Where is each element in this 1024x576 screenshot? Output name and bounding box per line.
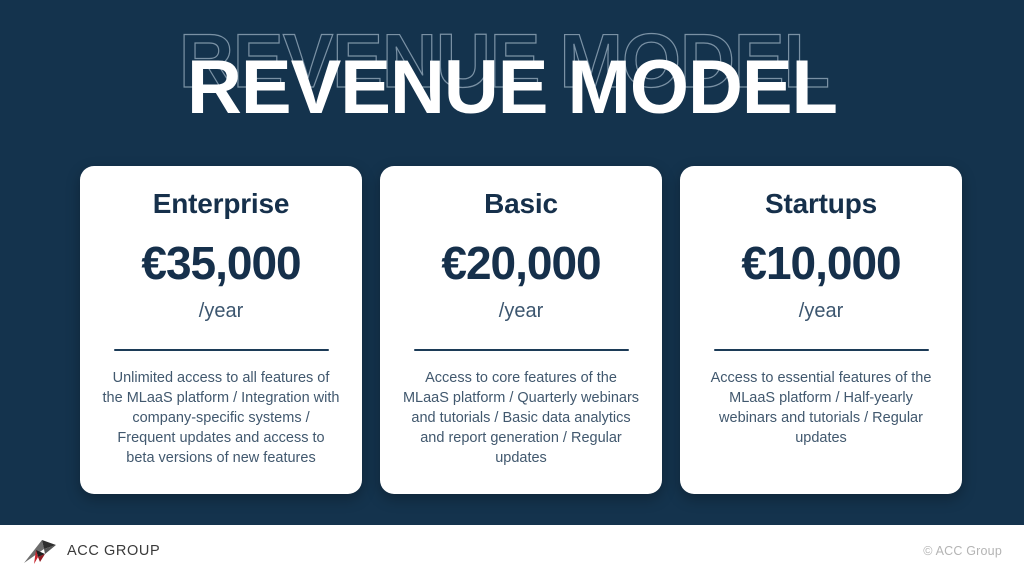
- plan-price: €10,000: [741, 236, 900, 290]
- plan-name: Enterprise: [153, 188, 290, 220]
- plan-features: Access to core features of the MLaaS pla…: [396, 368, 646, 468]
- pricing-card-startups[interactable]: Startups €10,000 /year Access to essenti…: [680, 166, 962, 494]
- plan-billing-period: /year: [499, 300, 543, 323]
- pricing-card-list: Enterprise €35,000 /year Unlimited acces…: [80, 166, 962, 494]
- slide-canvas: REVENUE MODEL REVENUE MODEL Enterprise €…: [0, 0, 1024, 576]
- plan-price: €20,000: [441, 236, 600, 290]
- acc-arrow-logo-icon: [22, 537, 58, 565]
- plan-features: Unlimited access to all features of the …: [96, 368, 346, 468]
- plan-features: Access to essential features of the MLaa…: [696, 368, 946, 448]
- plan-price: €35,000: [141, 236, 300, 290]
- brand-lockup: ACC GROUP: [22, 537, 160, 565]
- card-divider: [714, 349, 929, 351]
- plan-name: Basic: [484, 188, 558, 220]
- pricing-card-enterprise[interactable]: Enterprise €35,000 /year Unlimited acces…: [80, 166, 362, 494]
- pricing-card-basic[interactable]: Basic €20,000 /year Access to core featu…: [380, 166, 662, 494]
- plan-billing-period: /year: [199, 300, 243, 323]
- plan-billing-period: /year: [799, 300, 843, 323]
- page-title: REVENUE MODEL: [0, 50, 1024, 126]
- slide-title-area: REVENUE MODEL REVENUE MODEL: [0, 0, 1024, 160]
- slide-footer: ACC GROUP © ACC Group: [0, 525, 1024, 576]
- card-divider: [414, 349, 629, 351]
- plan-name: Startups: [765, 188, 877, 220]
- brand-name: ACC GROUP: [67, 543, 160, 559]
- copyright-text: © ACC Group: [923, 544, 1002, 558]
- card-divider: [114, 349, 329, 351]
